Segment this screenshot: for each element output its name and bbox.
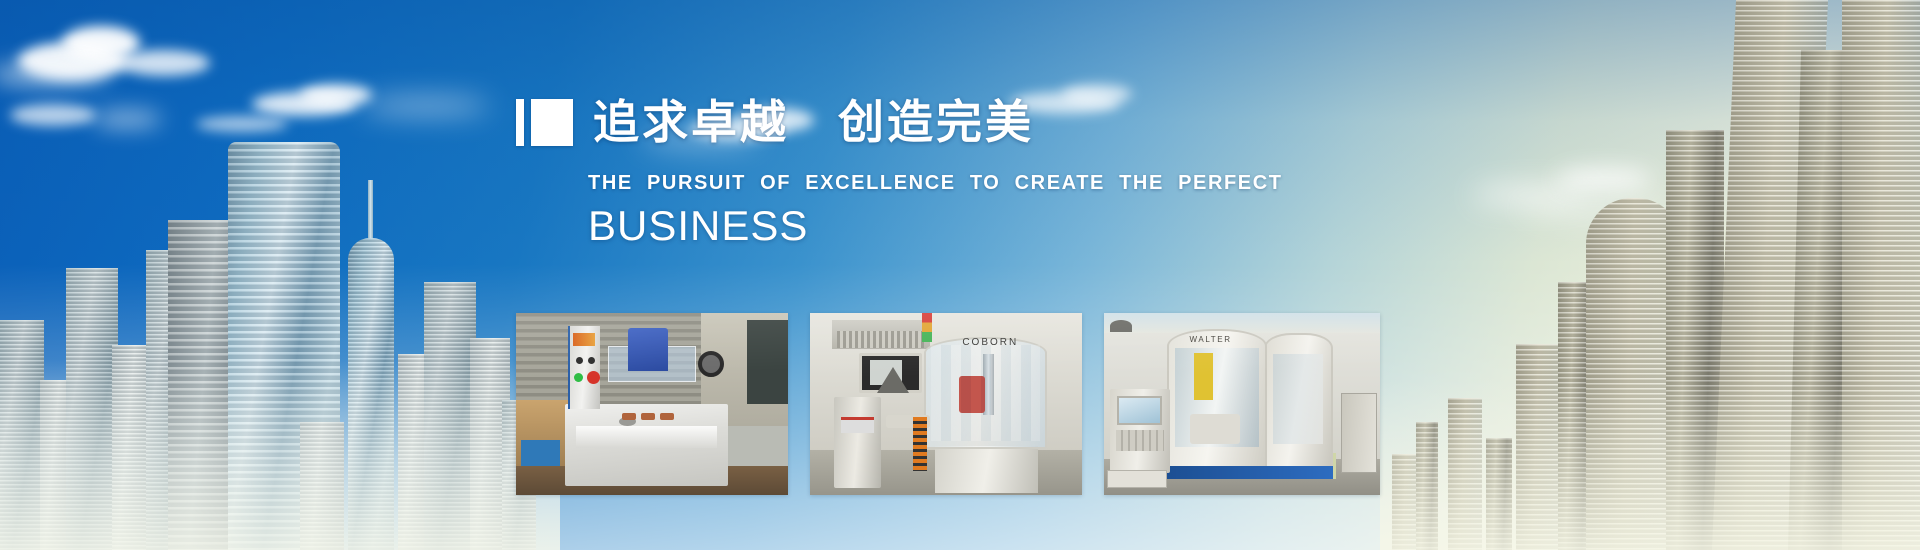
photo-1-scene xyxy=(516,313,788,495)
photo-2-scene: COBORN xyxy=(810,313,1082,495)
photo-3-scene: WALTER xyxy=(1104,313,1380,495)
photo-3-brand-label: WALTER xyxy=(1190,335,1232,344)
logo-bar-icon xyxy=(516,99,524,146)
hero-banner: 追求卓越 创造完美 THE PURSUIT OF EXCELLENCE TO C… xyxy=(0,0,1920,550)
logo-square-icon xyxy=(531,99,573,146)
right-cityscape xyxy=(1390,0,1920,550)
logo-mark-icon xyxy=(516,99,573,146)
headline-row: 追求卓越 创造完美 xyxy=(516,92,1416,152)
left-cityscape xyxy=(0,130,560,550)
banner-content: 追求卓越 创造完美 THE PURSUIT OF EXCELLENCE TO C… xyxy=(516,92,1416,247)
machine-photo-2[interactable]: COBORN xyxy=(810,313,1082,495)
tagline-english: THE PURSUIT OF EXCELLENCE TO CREATE THE … xyxy=(588,172,1416,195)
headline-chinese: 追求卓越 创造完美 xyxy=(593,99,1034,145)
machine-photo-strip: COBORN xyxy=(516,313,1380,495)
machine-photo-1[interactable] xyxy=(516,313,788,495)
business-word: BUSINESS xyxy=(588,205,1416,247)
photo-2-brand-label: COBORN xyxy=(962,337,1018,348)
machine-photo-3[interactable]: WALTER xyxy=(1104,313,1380,495)
